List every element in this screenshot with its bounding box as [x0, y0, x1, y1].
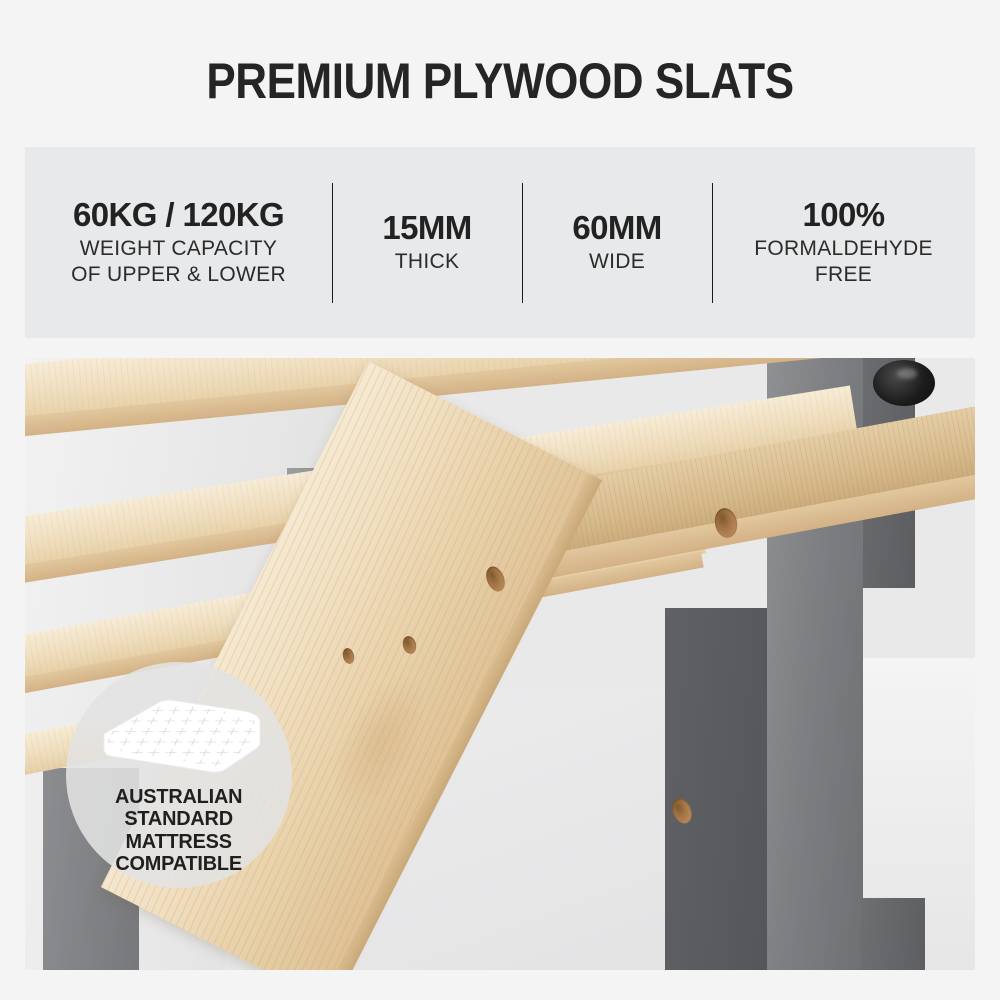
- spec-divider: [522, 183, 523, 303]
- spec-value: 100%: [802, 197, 884, 233]
- spec-label-line-1: THICK: [395, 249, 460, 275]
- spec-value: 15MM: [382, 210, 471, 246]
- spec-item-width: 60MM WIDE: [522, 147, 712, 338]
- spec-label-line-2: OF UPPER & LOWER: [71, 262, 286, 288]
- spec-label: THICK: [395, 249, 460, 275]
- metal-post-foot: [861, 898, 925, 970]
- spec-label-line-2: FREE: [754, 262, 933, 288]
- metal-post-shadowed: [665, 608, 769, 970]
- spec-item-thickness: 15MM THICK: [332, 147, 522, 338]
- spec-divider: [712, 183, 713, 303]
- spec-value: 60MM: [572, 210, 661, 246]
- spec-divider: [332, 183, 333, 303]
- spec-item-formaldehyde-free: 100% FORMALDEHYDE FREE: [712, 147, 975, 338]
- spec-label-line-1: WIDE: [589, 249, 645, 275]
- badge-line-2: STANDARD: [115, 808, 242, 830]
- product-infographic: PREMIUM PLYWOOD SLATS 60KG / 120KG WEIGH…: [0, 0, 1000, 1000]
- page-title: PREMIUM PLYWOOD SLATS: [60, 52, 940, 110]
- black-cap-highlight: [897, 368, 917, 379]
- spec-label: WIDE: [589, 249, 645, 275]
- mattress-compatibility-badge: AUSTRALIAN STANDARD MATTRESS COMPATIBLE: [66, 662, 292, 888]
- spec-item-weight-capacity: 60KG / 120KG WEIGHT CAPACITY OF UPPER & …: [25, 147, 332, 338]
- product-photo: AUSTRALIAN STANDARD MATTRESS COMPATIBLE: [25, 358, 975, 970]
- spec-label: WEIGHT CAPACITY OF UPPER & LOWER: [71, 236, 286, 288]
- badge-text: AUSTRALIAN STANDARD MATTRESS COMPATIBLE: [115, 786, 242, 875]
- specification-bar: 60KG / 120KG WEIGHT CAPACITY OF UPPER & …: [25, 147, 975, 338]
- mattress-icon: [94, 684, 264, 780]
- spec-label: FORMALDEHYDE FREE: [754, 236, 933, 288]
- spec-value: 60KG / 120KG: [73, 197, 284, 233]
- spec-label-line-1: WEIGHT CAPACITY: [71, 236, 286, 262]
- black-cap-icon: [873, 360, 935, 406]
- badge-line-3: MATTRESS: [115, 831, 242, 853]
- badge-line-1: AUSTRALIAN: [115, 786, 242, 808]
- badge-line-4: COMPATIBLE: [115, 853, 242, 875]
- photo-scene: AUSTRALIAN STANDARD MATTRESS COMPATIBLE: [25, 358, 975, 970]
- spec-label-line-1: FORMALDEHYDE: [754, 236, 933, 262]
